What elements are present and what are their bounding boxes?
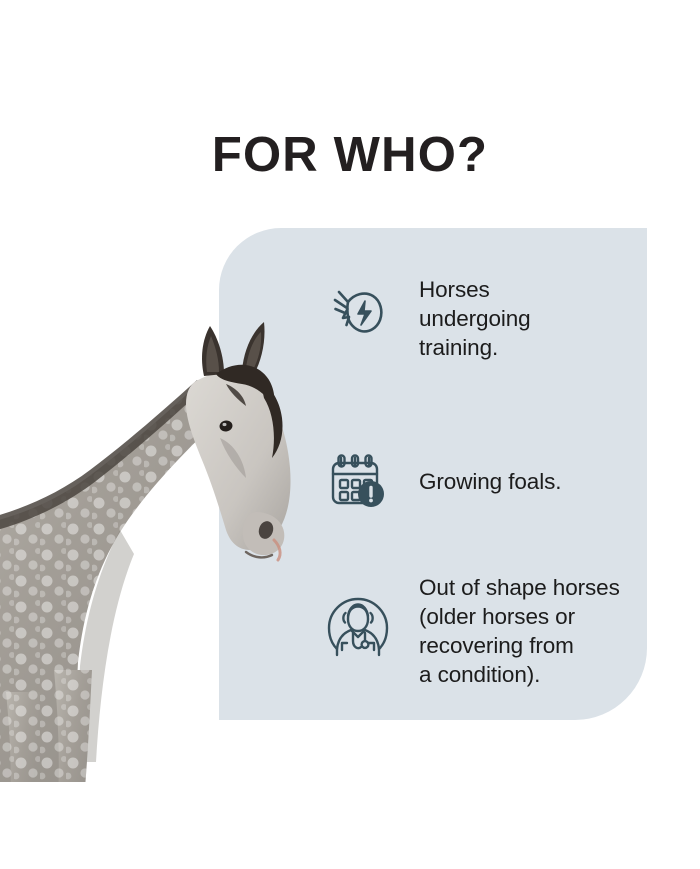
- veterinarian-stethoscope-icon: [327, 597, 389, 659]
- poster-canvas: FOR WHO?: [0, 0, 700, 869]
- muscle-lightning-icon: [327, 279, 389, 341]
- feature-item-out-of-shape: Out of shape horses (older horses or rec…: [327, 597, 620, 689]
- feature-label: Growing foals.: [419, 467, 561, 496]
- feature-label: Out of shape horses (older horses or rec…: [419, 573, 620, 689]
- page-title: FOR WHO?: [0, 131, 700, 180]
- feature-item-foals: Growing foals.: [327, 450, 561, 512]
- feature-item-training: Horses undergoing training.: [327, 279, 531, 362]
- calendar-alert-icon: [327, 450, 389, 512]
- feature-label: Horses undergoing training.: [419, 275, 531, 362]
